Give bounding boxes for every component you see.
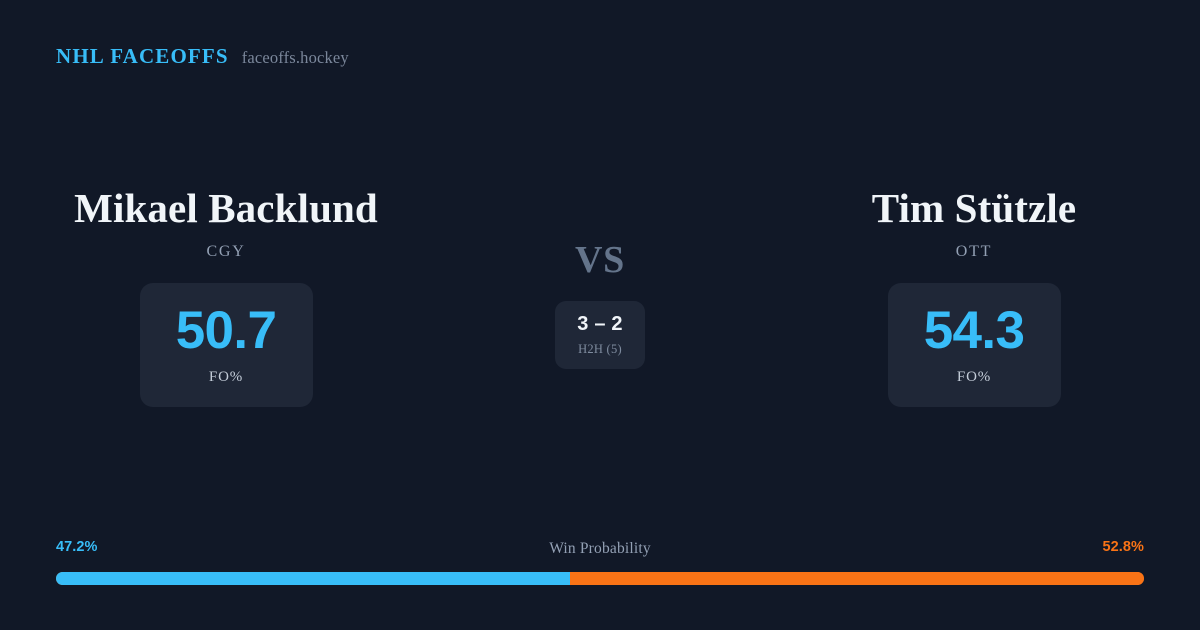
brand-domain: faceoffs.hockey: [242, 50, 349, 67]
win-probability-section: 47.2% Win Probability 52.8%: [56, 540, 1144, 585]
faceoff-value-right: 54.3: [924, 304, 1025, 357]
player-name-left: Mikael Backlund: [74, 186, 378, 232]
faceoff-stat-card-left: 50.7 FO%: [140, 283, 313, 407]
h2h-score: 3 – 2: [577, 314, 622, 334]
vs-label: VS: [575, 241, 625, 279]
h2h-caption: H2H (5): [578, 343, 622, 356]
player-card-left: Mikael Backlund CGY 50.7 FO%: [0, 186, 452, 407]
brand-title: NHL FACEOFFS: [56, 46, 229, 67]
matchup-section: Mikael Backlund CGY 50.7 FO% VS 3 – 2 H2…: [0, 186, 1200, 407]
faceoff-label-left: FO%: [209, 370, 243, 385]
win-probability-bar-left-fill: [56, 572, 570, 585]
player-card-right: Tim Stützle OTT 54.3 FO%: [748, 186, 1200, 407]
player-name-right: Tim Stützle: [872, 186, 1076, 232]
h2h-badge: 3 – 2 H2H (5): [555, 301, 645, 369]
matchup-center: VS 3 – 2 H2H (5): [452, 186, 748, 369]
win-probability-bar: [56, 572, 1144, 585]
win-probability-right-value: 52.8%: [1103, 540, 1144, 555]
player-team-right: OTT: [956, 244, 992, 260]
faceoff-stat-card-right: 54.3 FO%: [888, 283, 1061, 407]
win-probability-bar-right-fill: [570, 572, 1144, 585]
win-probability-labels: 47.2% Win Probability 52.8%: [56, 540, 1144, 560]
win-probability-title: Win Probability: [56, 541, 1144, 557]
faceoff-value-left: 50.7: [176, 304, 277, 357]
faceoff-label-right: FO%: [957, 370, 991, 385]
brand-header: NHL FACEOFFS faceoffs.hockey: [56, 46, 349, 67]
player-team-left: CGY: [206, 244, 245, 260]
